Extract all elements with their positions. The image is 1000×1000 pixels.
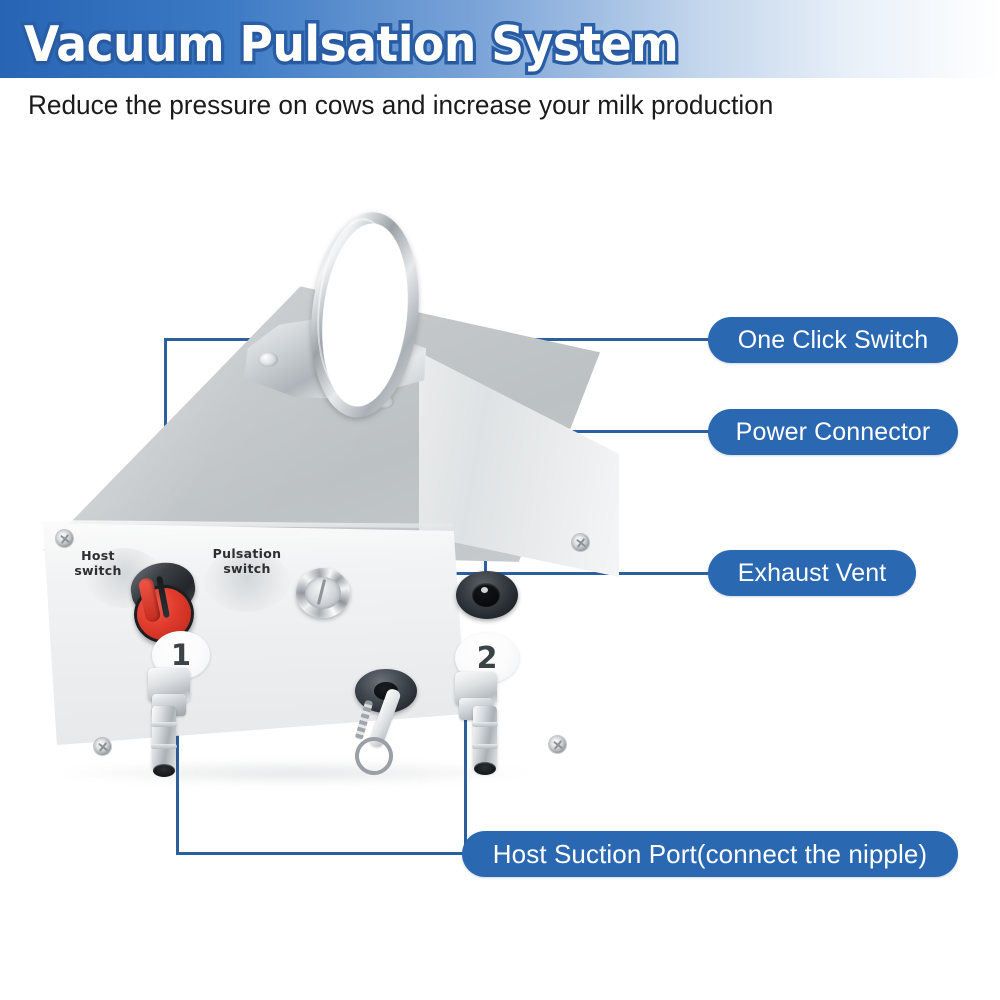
- panel-screw-bottom-left: [94, 738, 111, 755]
- panel-screw-top-left: [56, 530, 73, 547]
- callout-host-suction-port[interactable]: Host Suction Port(connect the nipple): [462, 831, 958, 877]
- leader-line-suction-port-horizontal: [176, 852, 476, 855]
- port-badge-1-number: 1: [171, 638, 191, 672]
- page-subtitle: Reduce the pressure on cows and increase…: [28, 88, 773, 122]
- callout-power-connector-label: Power Connector: [736, 418, 931, 447]
- panel-label-pulsation-switch-line2: switch: [223, 561, 270, 576]
- suction-port-2-rib-upper: [472, 722, 498, 727]
- callout-one-click-switch-label: One Click Switch: [738, 326, 929, 355]
- suction-port-2-rib-lower: [472, 744, 498, 749]
- callout-one-click-switch[interactable]: One Click Switch: [708, 317, 958, 363]
- port-badge-2-number: 2: [477, 641, 498, 676]
- suction-port-1-barb-tube: [152, 706, 176, 772]
- infographic-page: Vacuum Pulsation System Reduce the press…: [0, 0, 1000, 1000]
- panel-label-host-switch-line1: Host: [81, 548, 115, 563]
- suction-port-1-rib-lower: [151, 744, 177, 749]
- power-connector-pin: [481, 587, 488, 593]
- panel-label-host-switch-line2: switch: [74, 563, 121, 578]
- suction-port-1-opening: [153, 764, 175, 777]
- callout-power-connector[interactable]: Power Connector: [708, 409, 958, 455]
- page-title: Vacuum Pulsation System: [24, 18, 678, 72]
- product-shadow: [60, 760, 530, 786]
- suction-port-1-rib-upper: [151, 722, 177, 727]
- panel-label-host-switch: Host switch: [63, 548, 133, 578]
- panel-label-pulsation-switch-line1: Pulsation: [213, 546, 282, 561]
- panel-screw-bottom-right: [549, 736, 566, 753]
- suction-port-2-opening: [474, 762, 496, 775]
- device-latch-rivet-left: [258, 352, 278, 367]
- panel-label-pulsation-switch: Pulsation switch: [201, 546, 293, 576]
- callout-exhaust-vent[interactable]: Exhaust Vent: [708, 550, 916, 596]
- callout-exhaust-vent-label: Exhaust Vent: [738, 559, 887, 588]
- panel-screw-top-right: [572, 534, 589, 551]
- callout-host-suction-port-label: Host Suction Port(connect the nipple): [493, 839, 927, 870]
